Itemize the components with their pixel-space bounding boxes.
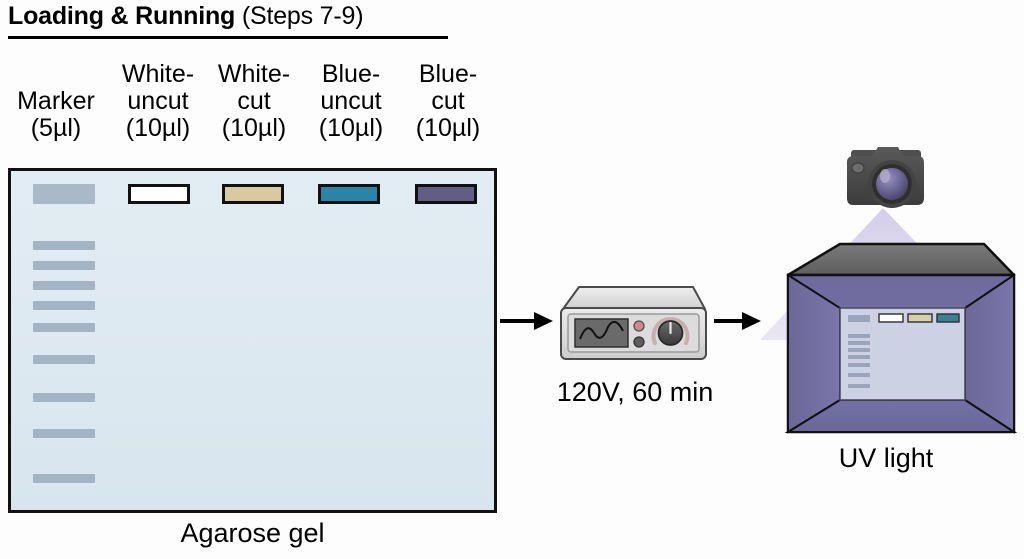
arrow-gel-to-psu xyxy=(500,308,554,334)
well-blue-uncut xyxy=(318,184,380,204)
title-steps-text: (Steps 7-9) xyxy=(242,2,363,30)
marker-band xyxy=(33,474,95,483)
lane-label-blue-cut: Blue- cut (10µl) xyxy=(400,61,496,142)
lane-label-marker: Marker (5µl) xyxy=(2,88,110,142)
page-title: Loading & Running (Steps 7-9) xyxy=(8,2,448,39)
uv-light-caption: UV light xyxy=(752,443,1020,474)
marker-band xyxy=(33,323,95,332)
uv-light-box xyxy=(752,132,1020,444)
gel-caption: Agarose gel xyxy=(8,518,497,549)
lane-label-blue-uncut: Blue- uncut (10µl) xyxy=(300,61,402,142)
well-blue-cut xyxy=(415,184,477,204)
marker-band xyxy=(33,393,95,402)
uv-inner-gel xyxy=(840,308,965,400)
camera-icon xyxy=(847,147,924,208)
power-supply-caption: 120V, 60 min xyxy=(525,377,745,408)
marker-band xyxy=(33,429,95,438)
marker-band xyxy=(33,355,95,364)
marker-band xyxy=(33,241,95,250)
marker-band xyxy=(33,281,95,290)
well-white-uncut xyxy=(128,184,190,204)
well-white-cut xyxy=(222,184,284,204)
marker-band xyxy=(33,301,95,310)
lane-label-white-uncut: White- uncut (10µl) xyxy=(106,61,210,142)
well-marker xyxy=(33,184,95,204)
lane-label-white-cut: White- cut (10µl) xyxy=(204,61,304,142)
title-main-text: Loading & Running xyxy=(8,2,242,30)
power-supply xyxy=(553,281,713,365)
diagram-canvas: Loading & Running (Steps 7-9) Marker (5µ… xyxy=(0,0,1024,559)
agarose-gel xyxy=(8,168,497,513)
marker-band xyxy=(33,261,95,270)
